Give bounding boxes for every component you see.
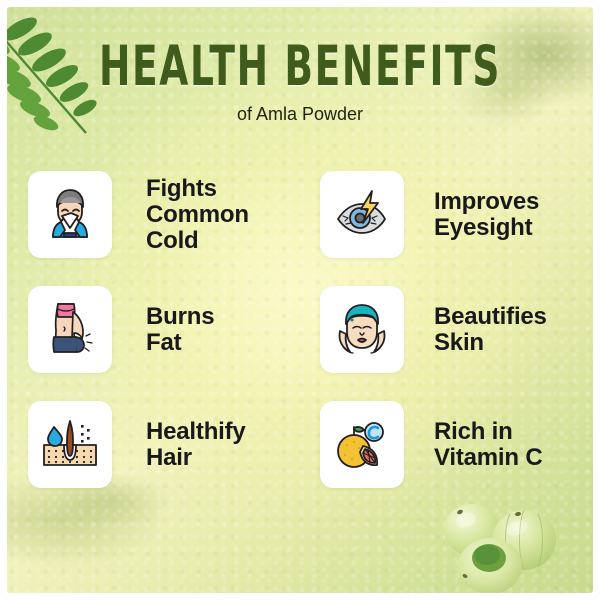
benefit-item-beautifies-skin: Beautifies Skin bbox=[320, 286, 547, 373]
benefit-label: Healthify Hair bbox=[146, 419, 246, 471]
benefit-item-rich-in-vitamin-c: Rich in Vitamin C bbox=[320, 401, 542, 488]
hair-follicle-droplet-icon bbox=[40, 415, 100, 475]
benefit-item-healthify-hair: Healthify Hair bbox=[28, 401, 246, 488]
orange-vitamin-c-icon bbox=[332, 415, 392, 475]
benefit-icon-card bbox=[28, 401, 112, 488]
benefit-item-improves-eyesight: Improves Eyesight bbox=[320, 171, 539, 258]
benefit-icon-card bbox=[320, 171, 404, 258]
benefit-label: Fights Common Cold bbox=[146, 176, 249, 254]
poster-header: HEALTH BENEFITS of Amla Powder bbox=[0, 38, 600, 125]
page-title: HEALTH BENEFITS bbox=[60, 38, 540, 97]
benefit-label: Beautifies Skin bbox=[434, 304, 547, 356]
weight-loss-waist-icon bbox=[40, 300, 100, 360]
benefit-icon-card bbox=[320, 401, 404, 488]
benefit-label: Rich in Vitamin C bbox=[434, 419, 542, 471]
eye-lightning-icon bbox=[332, 185, 392, 245]
infographic-poster: HEALTH BENEFITS of Amla Powder bbox=[0, 0, 600, 600]
benefit-label: Burns Fat bbox=[146, 304, 214, 356]
benefit-icon-card bbox=[320, 286, 404, 373]
page-subtitle: of Amla Powder bbox=[0, 104, 600, 125]
facial-care-woman-icon bbox=[332, 300, 392, 360]
sneezing-person-icon bbox=[40, 185, 100, 245]
benefit-icon-card bbox=[28, 286, 112, 373]
benefit-item-fights-common-cold: Fights Common Cold bbox=[28, 171, 249, 258]
benefit-label: Improves Eyesight bbox=[434, 189, 539, 241]
benefit-item-burns-fat: Burns Fat bbox=[28, 286, 214, 373]
benefit-icon-card bbox=[28, 171, 112, 258]
amla-fruit-cluster bbox=[432, 498, 582, 598]
